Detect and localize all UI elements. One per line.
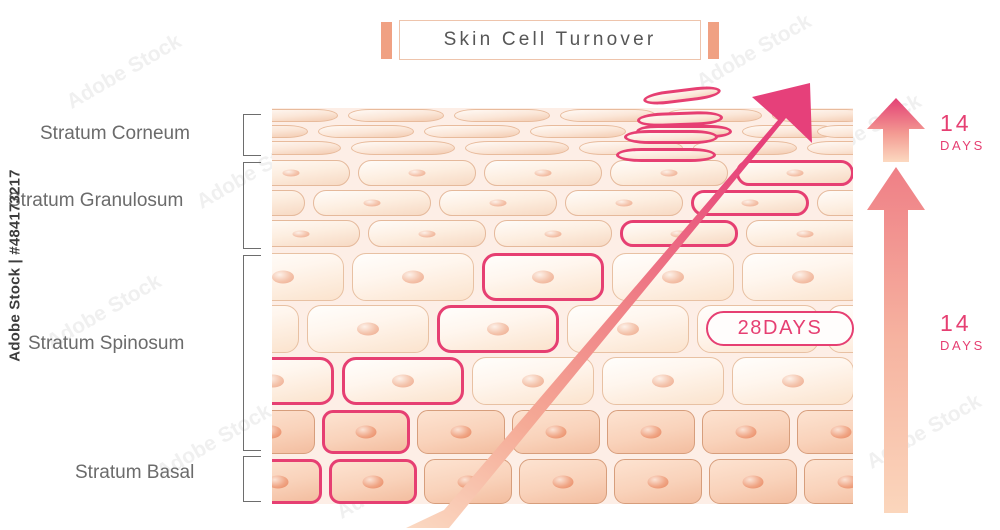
spinosum-cell (307, 305, 429, 353)
cell-nucleus (553, 475, 574, 488)
cell-nucleus (392, 375, 414, 388)
spinosum-cell (352, 253, 474, 301)
cell-nucleus (458, 475, 479, 488)
title-accent-bar-right (708, 22, 719, 59)
title-text: Skin Cell Turnover (444, 29, 657, 51)
corneum-cell (530, 125, 626, 138)
granulosum-cell (746, 220, 853, 247)
cell-nucleus (641, 426, 662, 439)
cell-nucleus (736, 426, 757, 439)
cell-nucleus (671, 230, 688, 237)
lower-phase-arrow (866, 166, 926, 514)
granulosum-cell (368, 220, 486, 247)
cell-nucleus (522, 375, 544, 388)
page-title: Skin Cell Turnover (381, 20, 719, 60)
cell-nucleus (787, 170, 804, 177)
lower-days-unit: DAYS (940, 339, 985, 352)
cell-nucleus (272, 426, 282, 439)
epidermis-cross-section (272, 108, 853, 504)
spinosum-cell (472, 357, 594, 405)
corneum-cell (272, 141, 341, 155)
spinosum-cell (272, 305, 299, 353)
cell-nucleus (831, 426, 852, 439)
basal-cell (607, 410, 695, 454)
layer-label-spinosum: Stratum Spinosum (28, 333, 184, 355)
cell-nucleus (364, 200, 381, 207)
basal-cell-highlighted (272, 459, 322, 504)
layer-label-basal: Stratum Basal (75, 462, 194, 484)
watermark-tile: Adobe Stock (63, 30, 186, 115)
granulosum-cell-highlighted (620, 220, 738, 247)
corneum-cell (454, 109, 550, 122)
spinosum-cell-highlighted (342, 357, 464, 405)
granulosum-cell (484, 160, 602, 186)
basal-cell-highlighted (329, 459, 417, 504)
cell-nucleus (616, 200, 633, 207)
cell-nucleus (743, 475, 764, 488)
cell-nucleus (617, 323, 639, 336)
bracket-corneum (243, 114, 261, 156)
basal-cell (709, 459, 797, 504)
cell-nucleus (409, 170, 426, 177)
granulosum-cell (439, 190, 557, 216)
cell-nucleus (652, 375, 674, 388)
lower-days-label: 14 DAYS (940, 312, 985, 352)
basal-cell (512, 410, 600, 454)
upper-days-unit: DAYS (940, 139, 985, 152)
watermark-text: Adobe Stock | #484173217 (7, 169, 24, 361)
basal-cell (614, 459, 702, 504)
basal-cell (272, 410, 315, 454)
upper-phase-arrow (866, 97, 926, 163)
basal-cell (519, 459, 607, 504)
basal-cell (424, 459, 512, 504)
cell-nucleus (357, 323, 379, 336)
corneum-cell (351, 141, 455, 155)
cell-nucleus (451, 426, 472, 439)
title-box: Skin Cell Turnover (399, 20, 701, 60)
corneum-cell (807, 141, 853, 155)
granulosum-cell (272, 220, 360, 247)
granulosum-cell (358, 160, 476, 186)
corneum-cell (465, 141, 569, 155)
spinosum-cell-highlighted (272, 357, 334, 405)
spinosum-cell-highlighted (437, 305, 559, 353)
cell-nucleus (490, 200, 507, 207)
cell-nucleus (782, 375, 804, 388)
bracket-spinosum (243, 255, 261, 451)
bracket-basal (243, 456, 261, 502)
spinosum-cell (732, 357, 853, 405)
corneum-cell (424, 125, 520, 138)
spinosum-cell-highlighted (482, 253, 604, 301)
granulosum-cell (565, 190, 683, 216)
basal-cell-highlighted (322, 410, 410, 454)
granulosum-cell-highlighted (691, 190, 809, 216)
title-accent-bar-left (381, 22, 392, 59)
shedding-flake (624, 130, 718, 144)
corneum-cell (817, 125, 853, 138)
basal-cell (702, 410, 790, 454)
shedding-flake (642, 84, 721, 106)
cell-nucleus (272, 271, 294, 284)
granulosum-cell-highlighted (736, 160, 853, 186)
cell-nucleus (742, 200, 759, 207)
basal-cell (797, 410, 853, 454)
cell-nucleus (283, 170, 300, 177)
cell-nucleus (535, 170, 552, 177)
cell-nucleus (293, 230, 310, 237)
spinosum-cell (742, 253, 853, 301)
cell-nucleus (797, 230, 814, 237)
cell-nucleus (487, 323, 509, 336)
layer-label-corneum: Stratum Corneum (40, 123, 190, 145)
cell-nucleus (546, 426, 567, 439)
granulosum-cell (272, 160, 350, 186)
basal-cell (417, 410, 505, 454)
corneum-cell (772, 109, 853, 122)
bracket-granulosum (243, 162, 261, 249)
cell-nucleus (792, 271, 814, 284)
spinosum-cell (272, 253, 344, 301)
spinosum-cell (602, 357, 724, 405)
shedding-flake (616, 148, 716, 162)
corneum-cell (348, 109, 444, 122)
lower-days-number: 14 (940, 312, 985, 335)
cell-nucleus (838, 475, 854, 488)
granulosum-cell (272, 190, 305, 216)
watermark-attribution: Adobe Stock | #484173217 (2, 0, 28, 530)
cell-nucleus (402, 271, 424, 284)
total-turnover-label: 28DAYS (738, 317, 823, 340)
total-turnover-badge: 28DAYS (706, 311, 854, 346)
cell-nucleus (419, 230, 436, 237)
upper-days-label: 14 DAYS (940, 112, 985, 152)
cell-nucleus (662, 271, 684, 284)
upper-days-number: 14 (940, 112, 985, 135)
basal-cell (804, 459, 853, 504)
granulosum-cell (494, 220, 612, 247)
spinosum-cell (567, 305, 689, 353)
cell-nucleus (661, 170, 678, 177)
spinosum-cell (612, 253, 734, 301)
granulosum-cell (817, 190, 853, 216)
layer-label-granulosum: Stratum Granulosum (8, 190, 183, 212)
cell-nucleus (648, 475, 669, 488)
cell-nucleus (545, 230, 562, 237)
corneum-cell (318, 125, 414, 138)
corneum-cell (272, 125, 308, 138)
cell-nucleus (272, 475, 289, 488)
cell-nucleus (532, 271, 554, 284)
granulosum-cell (610, 160, 728, 186)
corneum-cell (272, 109, 338, 122)
cell-nucleus (272, 375, 284, 388)
diagram-canvas: Adobe Stock Adobe Stock Adobe Stock Adob… (0, 0, 1000, 530)
granulosum-cell (313, 190, 431, 216)
cell-nucleus (363, 475, 384, 488)
cell-nucleus (356, 426, 377, 439)
